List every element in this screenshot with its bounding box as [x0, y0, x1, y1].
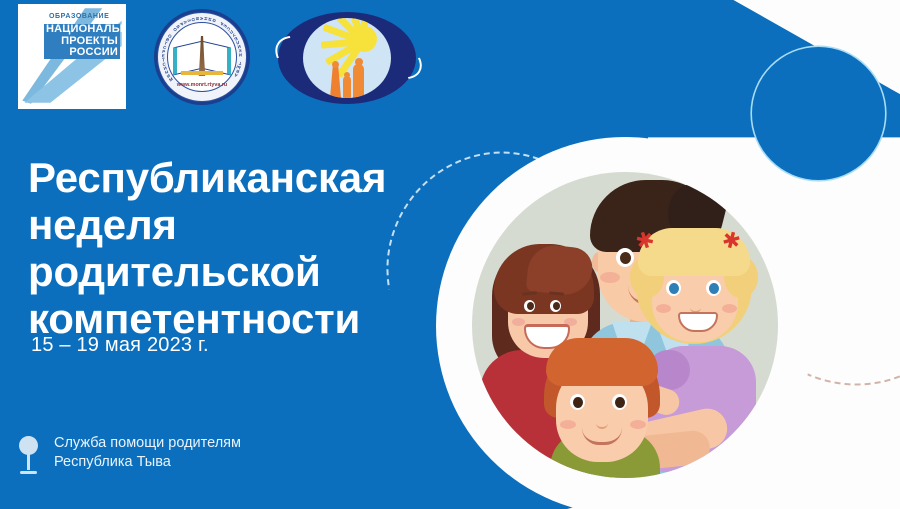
- girl-pupil: [669, 283, 679, 294]
- event-dates: 15 – 19 мая 2023 г.: [31, 334, 209, 357]
- family-head-woman: [332, 61, 339, 68]
- logo-parent-help-service: [278, 12, 416, 104]
- eye-iris: [303, 18, 391, 98]
- logo-np-line-3: РОССИИ: [44, 47, 120, 59]
- mother-cheek: [512, 318, 525, 326]
- page-title: Республиканская неделя родительской комп…: [28, 154, 458, 342]
- boy-pupil: [615, 397, 625, 408]
- seal-url-text: www.monrt.rtyva.ru: [154, 82, 250, 88]
- location-pin-icon: [18, 436, 40, 476]
- organization-line-1: Служба помощи родителям: [54, 434, 241, 453]
- girl-cheek: [656, 304, 671, 313]
- father-cheek: [600, 272, 620, 283]
- mother-pupil: [527, 302, 534, 310]
- girl-cheek: [722, 304, 737, 313]
- family-figure-man: [353, 64, 364, 98]
- logo-ministry-education-tuva: МИНИСТЕРСТВО ОБРАЗОВАНИЯ РЕСПУБЛИКИ ТЫВА…: [154, 9, 250, 105]
- pin-stem: [27, 452, 30, 470]
- footer-block: Служба помощи родителям Республика Тыва: [18, 434, 241, 476]
- pin-base: [20, 471, 37, 474]
- organization-name: Служба помощи родителям Республика Тыва: [54, 434, 241, 472]
- family-head-man: [355, 58, 363, 66]
- organization-line-2: Республика Тыва: [54, 453, 241, 472]
- mother-pupil: [553, 302, 560, 310]
- boy-cheek: [560, 420, 576, 429]
- sun-icon: [351, 26, 377, 52]
- father-pupil: [620, 252, 631, 264]
- family-figure-child: [343, 76, 351, 98]
- boy-hair-fringe: [546, 338, 658, 386]
- poster-canvas: ОБРАЗОВАНИЕ НАЦИОНАЛЬНЫЕ ПРОЕКТЫ РОССИИ …: [0, 0, 900, 509]
- logo-np-line-1: НАЦИОНАЛЬНЫЕ: [44, 24, 120, 36]
- boy-cheek: [630, 420, 646, 429]
- logo-national-projects-russia: ОБРАЗОВАНИЕ НАЦИОНАЛЬНЫЕ ПРОЕКТЫ РОССИИ: [18, 4, 126, 109]
- boy-pupil: [573, 397, 583, 408]
- family-illustration: ✱ ✱: [472, 172, 778, 478]
- seal-base-band: [181, 71, 223, 75]
- logo-row: ОБРАЗОВАНИЕ НАЦИОНАЛЬНЫЕ ПРОЕКТЫ РОССИИ …: [18, 4, 416, 114]
- girl-pupil: [709, 283, 719, 294]
- seal-emblem-artwork: [173, 34, 231, 76]
- family-head-child: [344, 72, 350, 78]
- logo-np-top-label: ОБРАЗОВАНИЕ: [49, 13, 109, 20]
- logo-np-lines: НАЦИОНАЛЬНЫЕ ПРОЕКТЫ РОССИИ: [44, 24, 120, 59]
